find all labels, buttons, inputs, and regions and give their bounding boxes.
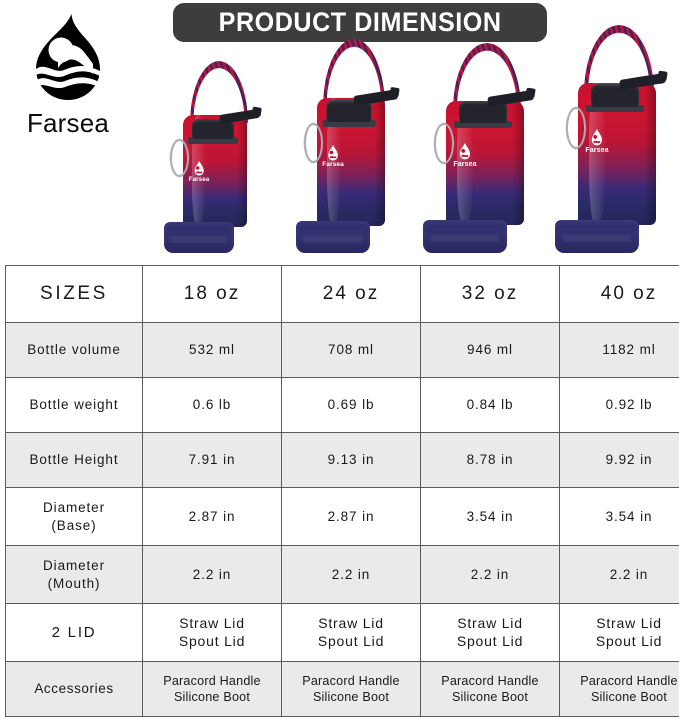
table-row-bottle-height: Bottle Height 7.91 in 9.13 in 8.78 in 9.… [6,433,679,488]
cell-lids-32oz: Straw Lid Spout Lid [421,604,560,662]
hero-section: Farsea PRODUCT DIMENSION [0,0,679,262]
cell-accessories-18oz-line2: Silicone Boot [145,689,279,705]
column-header-18oz: 18 oz [143,266,282,323]
cell-bottle-volume-18oz: 532 ml [143,323,282,378]
cell-bottle-weight-32oz: 0.84 lb [421,378,560,433]
cell-lids-24oz-line1: Straw Lid [284,615,418,633]
page-title: PRODUCT DIMENSION [219,7,502,38]
cell-lids-18oz-line1: Straw Lid [145,615,279,633]
silicone-boot [296,221,370,253]
row-label-diameter-base: Diameter (Base) [6,488,143,546]
column-header-24oz: 24 oz [282,266,421,323]
cell-accessories-24oz: Paracord Handle Silicone Boot [282,662,421,717]
table-row-diameter-mouth: Diameter (Mouth) 2.2 in 2.2 in 2.2 in 2.… [6,546,679,604]
table-row-diameter-base: Diameter (Base) 2.87 in 2.87 in 3.54 in … [6,488,679,546]
product-image-32oz: Farsea [426,39,548,253]
product-image-24oz: Farsea [296,35,412,253]
silicone-boot [555,220,639,253]
row-label-bottle-weight: Bottle weight [6,378,143,433]
cell-bottle-volume-24oz: 708 ml [282,323,421,378]
cell-diameter-mouth-18oz: 2.2 in [143,546,282,604]
silicone-boot [423,220,507,253]
column-header-32oz: 32 oz [421,266,560,323]
brand-logo: Farsea [8,12,128,152]
cell-diameter-mouth-40oz: 2.2 in [560,546,679,604]
row-label-diameter-base-line2: (Base) [8,517,140,534]
water-drop-wave-icon [31,12,105,108]
cell-accessories-32oz: Paracord Handle Silicone Boot [421,662,560,717]
cell-lids-40oz-line1: Straw Lid [562,615,679,633]
cell-accessories-32oz-line2: Silicone Boot [423,689,557,705]
row-label-lids: 2 LID [6,604,143,662]
cell-bottle-weight-18oz: 0.6 lb [143,378,282,433]
row-label-diameter-mouth-line2: (Mouth) [8,575,140,592]
cell-bottle-weight-40oz: 0.92 lb [560,378,679,433]
carabiner-icon [566,107,586,149]
row-label-diameter-mouth: Diameter (Mouth) [6,546,143,604]
cell-lids-32oz-line1: Straw Lid [423,615,557,633]
cell-bottle-height-32oz: 8.78 in [421,433,560,488]
row-label-bottle-height: Bottle Height [6,433,143,488]
product-dimension-table: SIZES 18 oz 24 oz 32 oz 40 oz Bottle vol… [5,265,679,717]
cell-bottle-volume-32oz: 946 ml [421,323,560,378]
cell-accessories-40oz-line2: Silicone Boot [562,689,679,705]
table-row-bottle-weight: Bottle weight 0.6 lb 0.69 lb 0.84 lb 0.9… [6,378,679,433]
table-header-row: SIZES 18 oz 24 oz 32 oz 40 oz [6,266,679,323]
cell-diameter-mouth-32oz: 2.2 in [421,546,560,604]
table-row-lids: 2 LID Straw Lid Spout Lid Straw Lid Spou… [6,604,679,662]
row-label-diameter-mouth-line1: Diameter [8,557,140,574]
cell-diameter-base-32oz: 3.54 in [421,488,560,546]
product-image-40oz: Farsea [558,23,679,253]
cell-lids-18oz-line2: Spout Lid [145,633,279,651]
table-row-bottle-volume: Bottle volume 532 ml 708 ml 946 ml 1182 … [6,323,679,378]
cell-lids-40oz-line2: Spout Lid [562,633,679,651]
carabiner-icon [170,139,189,177]
cell-bottle-volume-40oz: 1182 ml [560,323,679,378]
product-image-18oz: Farsea [164,53,274,253]
cell-bottle-height-40oz: 9.92 in [560,433,679,488]
brand-name: Farsea [8,110,128,136]
cell-diameter-base-18oz: 2.87 in [143,488,282,546]
cell-diameter-base-24oz: 2.87 in [282,488,421,546]
cell-accessories-18oz-line1: Paracord Handle [145,673,279,689]
cell-bottle-height-24oz: 9.13 in [282,433,421,488]
cell-lids-32oz-line2: Spout Lid [423,633,557,651]
cell-lids-24oz: Straw Lid Spout Lid [282,604,421,662]
cell-diameter-mouth-24oz: 2.2 in [282,546,421,604]
cell-lids-24oz-line2: Spout Lid [284,633,418,651]
cell-accessories-40oz-line1: Paracord Handle [562,673,679,689]
cell-bottle-height-18oz: 7.91 in [143,433,282,488]
cell-accessories-40oz: Paracord Handle Silicone Boot [560,662,679,717]
table-row-accessories: Accessories Paracord Handle Silicone Boo… [6,662,679,717]
silicone-boot [164,222,234,253]
carabiner-icon [304,123,323,163]
cell-accessories-18oz: Paracord Handle Silicone Boot [143,662,282,717]
row-label-diameter-base-line1: Diameter [8,499,140,516]
cell-accessories-24oz-line1: Paracord Handle [284,673,418,689]
cell-diameter-base-40oz: 3.54 in [560,488,679,546]
cell-lids-40oz: Straw Lid Spout Lid [560,604,679,662]
row-label-bottle-volume: Bottle volume [6,323,143,378]
cell-accessories-24oz-line2: Silicone Boot [284,689,418,705]
column-header-sizes: SIZES [6,266,143,323]
row-label-accessories: Accessories [6,662,143,717]
carabiner-icon [434,123,454,164]
column-header-40oz: 40 oz [560,266,679,323]
cell-bottle-weight-24oz: 0.69 lb [282,378,421,433]
cell-accessories-32oz-line1: Paracord Handle [423,673,557,689]
cell-lids-18oz: Straw Lid Spout Lid [143,604,282,662]
